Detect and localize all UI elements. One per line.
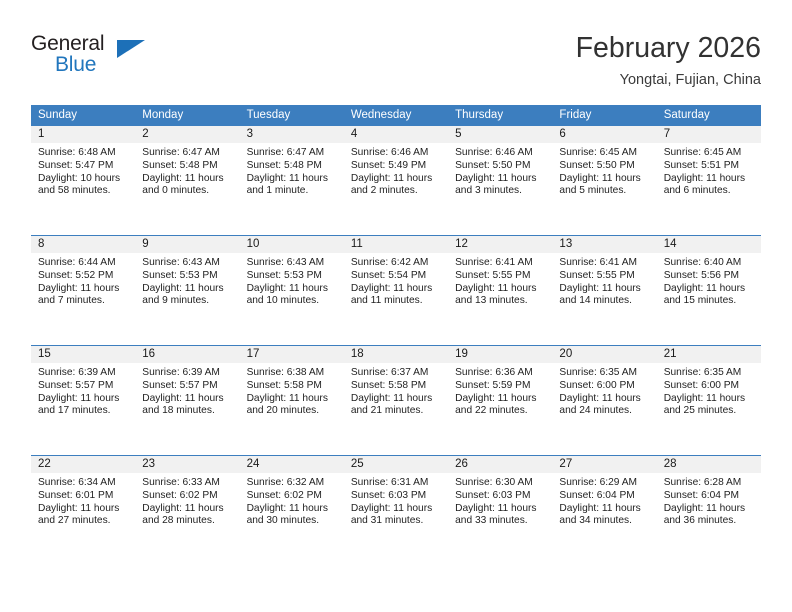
sunset-text: Sunset: 6:02 PM [247,490,338,503]
sunrise-text: Sunrise: 6:34 AM [38,477,129,490]
day-number-band: 17 [240,346,344,363]
weekday-header-monday: Monday [135,105,239,125]
day-details: Sunrise: 6:47 AM Sunset: 5:48 PM Dayligh… [135,143,239,198]
day-cell[interactable]: 6 Sunrise: 6:45 AM Sunset: 5:50 PM Dayli… [552,126,656,235]
sunset-text: Sunset: 5:50 PM [559,160,650,173]
day-details: Sunrise: 6:34 AM Sunset: 6:01 PM Dayligh… [31,473,135,528]
day-number-band: 21 [657,346,761,363]
day-number-band: 26 [448,456,552,473]
day-details: Sunrise: 6:35 AM Sunset: 6:00 PM Dayligh… [657,363,761,418]
page-title: February 2026 [576,30,761,66]
daylight-text: Daylight: 11 hours and 15 minutes. [664,283,755,309]
day-cell[interactable]: 12 Sunrise: 6:41 AM Sunset: 5:55 PM Dayl… [448,236,552,345]
day-details: Sunrise: 6:31 AM Sunset: 6:03 PM Dayligh… [344,473,448,528]
day-number-band: 25 [344,456,448,473]
sunset-text: Sunset: 5:53 PM [247,270,338,283]
day-cell[interactable]: 5 Sunrise: 6:46 AM Sunset: 5:50 PM Dayli… [448,126,552,235]
day-cell[interactable]: 17 Sunrise: 6:38 AM Sunset: 5:58 PM Dayl… [240,346,344,455]
day-number: 3 [240,126,344,143]
day-number-band: 1 [31,126,135,143]
sunrise-text: Sunrise: 6:45 AM [559,147,650,160]
day-details: Sunrise: 6:30 AM Sunset: 6:03 PM Dayligh… [448,473,552,528]
day-number: 25 [344,456,448,473]
daylight-text: Daylight: 11 hours and 30 minutes. [247,503,338,529]
day-cell[interactable]: 25 Sunrise: 6:31 AM Sunset: 6:03 PM Dayl… [344,456,448,565]
sunset-text: Sunset: 5:54 PM [351,270,442,283]
day-cell[interactable]: 7 Sunrise: 6:45 AM Sunset: 5:51 PM Dayli… [657,126,761,235]
daylight-text: Daylight: 11 hours and 1 minute. [247,173,338,199]
day-details: Sunrise: 6:44 AM Sunset: 5:52 PM Dayligh… [31,253,135,308]
daylight-text: Daylight: 11 hours and 3 minutes. [455,173,546,199]
day-number: 27 [552,456,656,473]
day-cell[interactable]: 8 Sunrise: 6:44 AM Sunset: 5:52 PM Dayli… [31,236,135,345]
day-cell[interactable]: 16 Sunrise: 6:39 AM Sunset: 5:57 PM Dayl… [135,346,239,455]
weekday-header-friday: Friday [552,105,656,125]
daylight-text: Daylight: 10 hours and 58 minutes. [38,173,129,199]
week-row: 22 Sunrise: 6:34 AM Sunset: 6:01 PM Dayl… [31,455,761,565]
day-number: 20 [552,346,656,363]
sunset-text: Sunset: 5:47 PM [38,160,129,173]
day-number: 5 [448,126,552,143]
day-number-band: 2 [135,126,239,143]
day-details: Sunrise: 6:43 AM Sunset: 5:53 PM Dayligh… [135,253,239,308]
day-details: Sunrise: 6:46 AM Sunset: 5:49 PM Dayligh… [344,143,448,198]
day-number-band: 28 [657,456,761,473]
sunrise-text: Sunrise: 6:38 AM [247,367,338,380]
sunrise-text: Sunrise: 6:48 AM [38,147,129,160]
day-details: Sunrise: 6:41 AM Sunset: 5:55 PM Dayligh… [552,253,656,308]
day-number-band: 13 [552,236,656,253]
daylight-text: Daylight: 11 hours and 17 minutes. [38,393,129,419]
day-number-band: 22 [31,456,135,473]
sunset-text: Sunset: 6:04 PM [559,490,650,503]
sunrise-text: Sunrise: 6:33 AM [142,477,233,490]
daylight-text: Daylight: 11 hours and 33 minutes. [455,503,546,529]
sunset-text: Sunset: 6:03 PM [455,490,546,503]
sunrise-text: Sunrise: 6:43 AM [142,257,233,270]
day-number-band: 12 [448,236,552,253]
day-details: Sunrise: 6:37 AM Sunset: 5:58 PM Dayligh… [344,363,448,418]
day-number: 22 [31,456,135,473]
sunrise-text: Sunrise: 6:41 AM [455,257,546,270]
sunset-text: Sunset: 5:57 PM [142,380,233,393]
day-number: 21 [657,346,761,363]
day-number: 17 [240,346,344,363]
day-cell[interactable]: 3 Sunrise: 6:47 AM Sunset: 5:48 PM Dayli… [240,126,344,235]
daylight-text: Daylight: 11 hours and 7 minutes. [38,283,129,309]
day-number: 10 [240,236,344,253]
day-cell[interactable]: 19 Sunrise: 6:36 AM Sunset: 5:59 PM Dayl… [448,346,552,455]
sunrise-text: Sunrise: 6:44 AM [38,257,129,270]
day-cell[interactable]: 22 Sunrise: 6:34 AM Sunset: 6:01 PM Dayl… [31,456,135,565]
day-cell[interactable]: 18 Sunrise: 6:37 AM Sunset: 5:58 PM Dayl… [344,346,448,455]
day-details: Sunrise: 6:47 AM Sunset: 5:48 PM Dayligh… [240,143,344,198]
brand-logo[interactable]: General Blue [31,30,151,88]
sunrise-text: Sunrise: 6:41 AM [559,257,650,270]
daylight-text: Daylight: 11 hours and 0 minutes. [142,173,233,199]
day-number-band: 3 [240,126,344,143]
sunrise-text: Sunrise: 6:37 AM [351,367,442,380]
sunset-text: Sunset: 5:52 PM [38,270,129,283]
sunset-text: Sunset: 5:59 PM [455,380,546,393]
day-cell[interactable]: 26 Sunrise: 6:30 AM Sunset: 6:03 PM Dayl… [448,456,552,565]
sunset-text: Sunset: 5:48 PM [142,160,233,173]
day-cell[interactable]: 4 Sunrise: 6:46 AM Sunset: 5:49 PM Dayli… [344,126,448,235]
day-number: 14 [657,236,761,253]
day-details: Sunrise: 6:42 AM Sunset: 5:54 PM Dayligh… [344,253,448,308]
daylight-text: Daylight: 11 hours and 5 minutes. [559,173,650,199]
week-row: 1 Sunrise: 6:48 AM Sunset: 5:47 PM Dayli… [31,125,761,235]
day-number-band: 20 [552,346,656,363]
day-number-band: 6 [552,126,656,143]
sunrise-text: Sunrise: 6:28 AM [664,477,755,490]
sunrise-text: Sunrise: 6:43 AM [247,257,338,270]
day-details: Sunrise: 6:45 AM Sunset: 5:50 PM Dayligh… [552,143,656,198]
day-number-band: 4 [344,126,448,143]
day-details: Sunrise: 6:48 AM Sunset: 5:47 PM Dayligh… [31,143,135,198]
day-number: 6 [552,126,656,143]
sunrise-text: Sunrise: 6:40 AM [664,257,755,270]
day-number-band: 18 [344,346,448,363]
day-details: Sunrise: 6:28 AM Sunset: 6:04 PM Dayligh… [657,473,761,528]
day-cell[interactable]: 28 Sunrise: 6:28 AM Sunset: 6:04 PM Dayl… [657,456,761,565]
day-details: Sunrise: 6:32 AM Sunset: 6:02 PM Dayligh… [240,473,344,528]
day-cell[interactable]: 13 Sunrise: 6:41 AM Sunset: 5:55 PM Dayl… [552,236,656,345]
weekday-header-tuesday: Tuesday [240,105,344,125]
day-number: 2 [135,126,239,143]
sunset-text: Sunset: 6:00 PM [664,380,755,393]
daylight-text: Daylight: 11 hours and 25 minutes. [664,393,755,419]
day-number: 7 [657,126,761,143]
sunset-text: Sunset: 5:53 PM [142,270,233,283]
day-number: 16 [135,346,239,363]
sunset-text: Sunset: 5:58 PM [351,380,442,393]
day-number-band: 11 [344,236,448,253]
day-cell[interactable]: 11 Sunrise: 6:42 AM Sunset: 5:54 PM Dayl… [344,236,448,345]
sunset-text: Sunset: 5:55 PM [559,270,650,283]
day-details: Sunrise: 6:41 AM Sunset: 5:55 PM Dayligh… [448,253,552,308]
sunrise-text: Sunrise: 6:36 AM [455,367,546,380]
title-block: February 2026 Yongtai, Fujian, China [576,30,761,90]
day-details: Sunrise: 6:43 AM Sunset: 5:53 PM Dayligh… [240,253,344,308]
day-number: 15 [31,346,135,363]
day-cell[interactable]: 9 Sunrise: 6:43 AM Sunset: 5:53 PM Dayli… [135,236,239,345]
day-number-band: 23 [135,456,239,473]
daylight-text: Daylight: 11 hours and 20 minutes. [247,393,338,419]
day-number: 28 [657,456,761,473]
day-details: Sunrise: 6:38 AM Sunset: 5:58 PM Dayligh… [240,363,344,418]
day-number-band: 19 [448,346,552,363]
week-row: 15 Sunrise: 6:39 AM Sunset: 5:57 PM Dayl… [31,345,761,455]
day-cell[interactable]: 27 Sunrise: 6:29 AM Sunset: 6:04 PM Dayl… [552,456,656,565]
day-cell[interactable]: 21 Sunrise: 6:35 AM Sunset: 6:00 PM Dayl… [657,346,761,455]
day-number-band: 7 [657,126,761,143]
sunset-text: Sunset: 5:50 PM [455,160,546,173]
day-number-band: 5 [448,126,552,143]
sunset-text: Sunset: 6:02 PM [142,490,233,503]
day-cell[interactable]: 1 Sunrise: 6:48 AM Sunset: 5:47 PM Dayli… [31,126,135,235]
day-cell[interactable]: 24 Sunrise: 6:32 AM Sunset: 6:02 PM Dayl… [240,456,344,565]
calendar-page: General Blue February 2026 Yongtai, Fuji… [0,0,792,612]
day-cell[interactable]: 2 Sunrise: 6:47 AM Sunset: 5:48 PM Dayli… [135,126,239,235]
sunset-text: Sunset: 5:56 PM [664,270,755,283]
sunrise-text: Sunrise: 6:45 AM [664,147,755,160]
sunrise-text: Sunrise: 6:30 AM [455,477,546,490]
day-number-band: 27 [552,456,656,473]
sunrise-text: Sunrise: 6:42 AM [351,257,442,270]
sunset-text: Sunset: 5:58 PM [247,380,338,393]
weekday-header-saturday: Saturday [657,105,761,125]
daylight-text: Daylight: 11 hours and 9 minutes. [142,283,233,309]
day-cell[interactable]: 23 Sunrise: 6:33 AM Sunset: 6:02 PM Dayl… [135,456,239,565]
weekday-header-row: Sunday Monday Tuesday Wednesday Thursday… [31,105,761,125]
sunrise-text: Sunrise: 6:29 AM [559,477,650,490]
sunrise-text: Sunrise: 6:39 AM [38,367,129,380]
day-cell[interactable]: 20 Sunrise: 6:35 AM Sunset: 6:00 PM Dayl… [552,346,656,455]
day-details: Sunrise: 6:40 AM Sunset: 5:56 PM Dayligh… [657,253,761,308]
page-header: General Blue February 2026 Yongtai, Fuji… [31,30,761,98]
day-cell[interactable]: 14 Sunrise: 6:40 AM Sunset: 5:56 PM Dayl… [657,236,761,345]
day-details: Sunrise: 6:35 AM Sunset: 6:00 PM Dayligh… [552,363,656,418]
sunset-text: Sunset: 6:03 PM [351,490,442,503]
day-number: 24 [240,456,344,473]
weekday-header-thursday: Thursday [448,105,552,125]
daylight-text: Daylight: 11 hours and 22 minutes. [455,393,546,419]
sunset-text: Sunset: 5:57 PM [38,380,129,393]
day-number-band: 9 [135,236,239,253]
day-number: 12 [448,236,552,253]
sunset-text: Sunset: 5:48 PM [247,160,338,173]
day-number: 19 [448,346,552,363]
page-subtitle: Yongtai, Fujian, China [576,70,761,90]
sunset-text: Sunset: 5:49 PM [351,160,442,173]
daylight-text: Daylight: 11 hours and 10 minutes. [247,283,338,309]
daylight-text: Daylight: 11 hours and 24 minutes. [559,393,650,419]
day-number-band: 16 [135,346,239,363]
sunrise-text: Sunrise: 6:35 AM [559,367,650,380]
sunrise-text: Sunrise: 6:35 AM [664,367,755,380]
sunrise-text: Sunrise: 6:31 AM [351,477,442,490]
daylight-text: Daylight: 11 hours and 13 minutes. [455,283,546,309]
day-number: 23 [135,456,239,473]
day-number-band: 24 [240,456,344,473]
day-number: 18 [344,346,448,363]
week-row: 8 Sunrise: 6:44 AM Sunset: 5:52 PM Dayli… [31,235,761,345]
day-details: Sunrise: 6:29 AM Sunset: 6:04 PM Dayligh… [552,473,656,528]
daylight-text: Daylight: 11 hours and 28 minutes. [142,503,233,529]
day-details: Sunrise: 6:36 AM Sunset: 5:59 PM Dayligh… [448,363,552,418]
sunset-text: Sunset: 6:00 PM [559,380,650,393]
sunrise-text: Sunrise: 6:46 AM [455,147,546,160]
sunrise-text: Sunrise: 6:47 AM [247,147,338,160]
day-number: 13 [552,236,656,253]
sunrise-text: Sunrise: 6:39 AM [142,367,233,380]
daylight-text: Daylight: 11 hours and 31 minutes. [351,503,442,529]
calendar-grid: Sunday Monday Tuesday Wednesday Thursday… [31,105,761,565]
day-number-band: 10 [240,236,344,253]
day-cell[interactable]: 10 Sunrise: 6:43 AM Sunset: 5:53 PM Dayl… [240,236,344,345]
day-details: Sunrise: 6:39 AM Sunset: 5:57 PM Dayligh… [135,363,239,418]
sunset-text: Sunset: 5:51 PM [664,160,755,173]
weekday-header-wednesday: Wednesday [344,105,448,125]
day-details: Sunrise: 6:45 AM Sunset: 5:51 PM Dayligh… [657,143,761,198]
day-number-band: 15 [31,346,135,363]
daylight-text: Daylight: 11 hours and 21 minutes. [351,393,442,419]
sunrise-text: Sunrise: 6:47 AM [142,147,233,160]
daylight-text: Daylight: 11 hours and 18 minutes. [142,393,233,419]
day-number-band: 8 [31,236,135,253]
day-details: Sunrise: 6:33 AM Sunset: 6:02 PM Dayligh… [135,473,239,528]
sunset-text: Sunset: 5:55 PM [455,270,546,283]
day-details: Sunrise: 6:39 AM Sunset: 5:57 PM Dayligh… [31,363,135,418]
day-number: 26 [448,456,552,473]
day-number: 1 [31,126,135,143]
daylight-text: Daylight: 11 hours and 2 minutes. [351,173,442,199]
day-details: Sunrise: 6:46 AM Sunset: 5:50 PM Dayligh… [448,143,552,198]
daylight-text: Daylight: 11 hours and 6 minutes. [664,173,755,199]
triangle-icon [117,40,145,58]
day-number: 8 [31,236,135,253]
daylight-text: Daylight: 11 hours and 36 minutes. [664,503,755,529]
sunset-text: Sunset: 6:01 PM [38,490,129,503]
day-cell[interactable]: 15 Sunrise: 6:39 AM Sunset: 5:57 PM Dayl… [31,346,135,455]
weekday-header-sunday: Sunday [31,105,135,125]
sunrise-text: Sunrise: 6:46 AM [351,147,442,160]
sunrise-text: Sunrise: 6:32 AM [247,477,338,490]
daylight-text: Daylight: 11 hours and 27 minutes. [38,503,129,529]
day-number-band: 14 [657,236,761,253]
sunset-text: Sunset: 6:04 PM [664,490,755,503]
daylight-text: Daylight: 11 hours and 34 minutes. [559,503,650,529]
day-number: 11 [344,236,448,253]
daylight-text: Daylight: 11 hours and 11 minutes. [351,283,442,309]
day-number: 9 [135,236,239,253]
day-number: 4 [344,126,448,143]
daylight-text: Daylight: 11 hours and 14 minutes. [559,283,650,309]
